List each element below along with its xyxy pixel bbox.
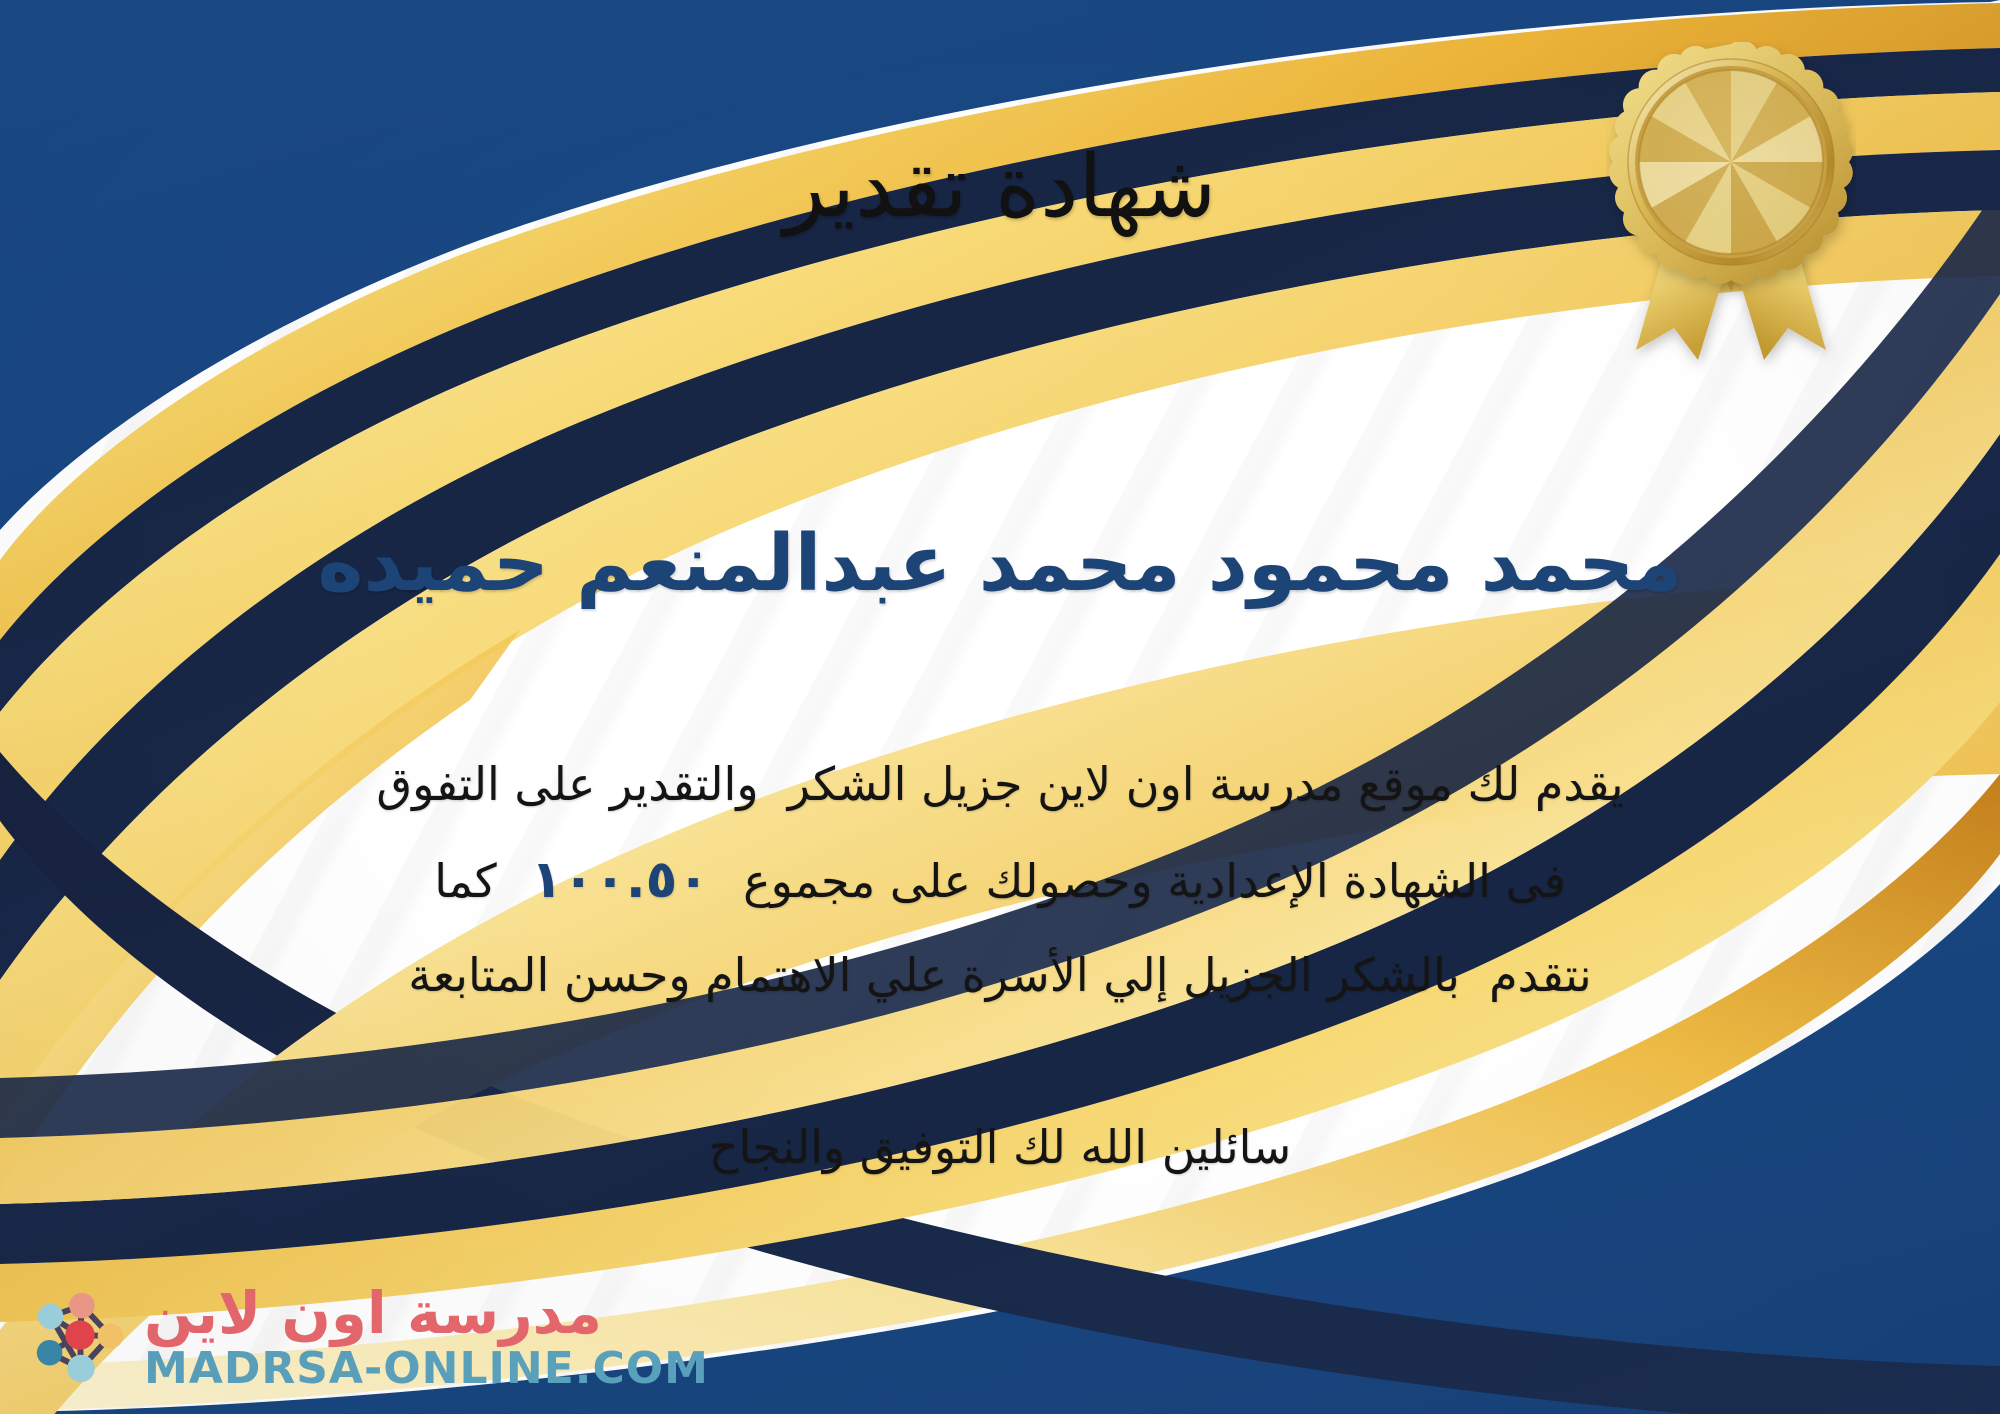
brand-website: MADRSA-ONLINE.COM (144, 1346, 709, 1392)
certificate-body: يقدم لك موقع مدرسة اون لاين جزيل الشكر و… (110, 740, 1890, 1021)
recipient-name: محمد محمود محمد عبدالمنعم حميده (0, 520, 2000, 610)
brand-text: مدرسة اون لاين MADRSA-ONLINE.COM (144, 1284, 709, 1392)
score-value: ١٠٠.٥٠ (497, 850, 743, 910)
certificate-page: شهادة تقدير محمد محمود محمد عبدالمنعم حم… (0, 0, 2000, 1414)
brand-logo[interactable]: مدرسة اون لاين MADRSA-ONLINE.COM (26, 1284, 709, 1392)
closing-line: سائلين الله لك التوفيق والنجاح (0, 1120, 2000, 1174)
body-line-2-after: كما (434, 854, 497, 908)
body-line-1: يقدم لك موقع مدرسة اون لاين جزيل الشكر و… (110, 740, 1890, 830)
body-line-2-before: فى الشهادة الإعدادية وحصولك على مجموع (743, 854, 1566, 908)
brand-name-arabic: مدرسة اون لاين (144, 1284, 602, 1342)
certificate-title: شهادة تقدير (0, 140, 2000, 235)
body-line-3: نتقدم بالشكر الجزيل إلي الأسرة علي الاهت… (110, 931, 1890, 1021)
body-line-2: فى الشهادة الإعدادية وحصولك على مجموع١٠٠… (110, 830, 1890, 931)
network-nodes-icon (26, 1284, 134, 1392)
